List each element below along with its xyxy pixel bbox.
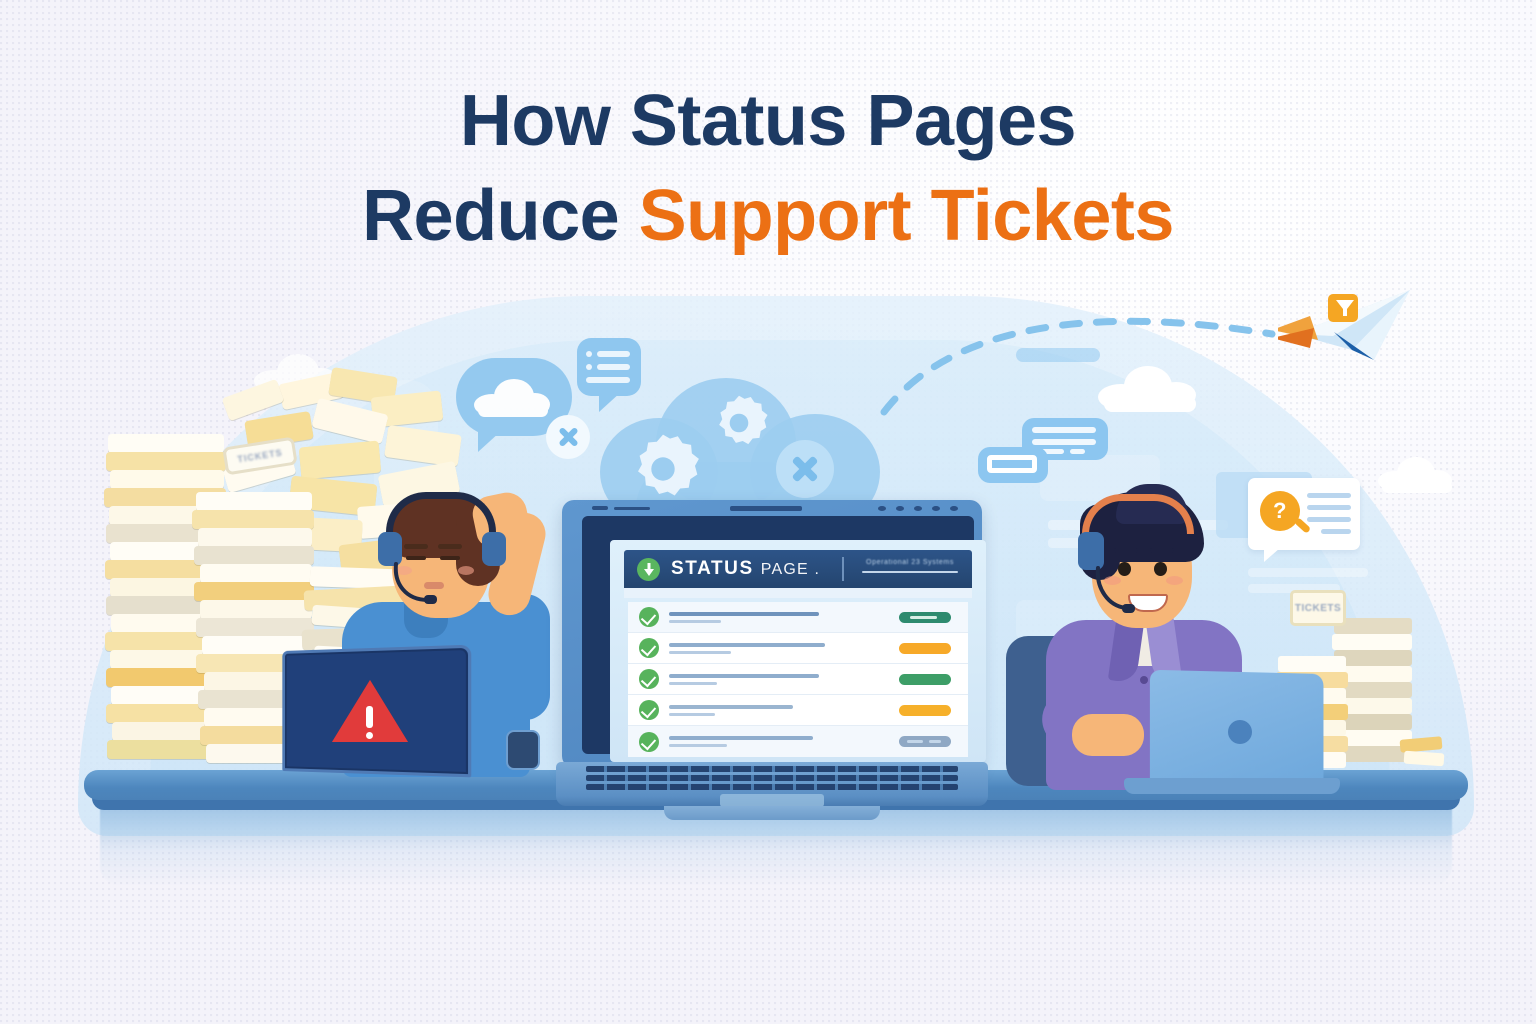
brand-light: PAGE . — [761, 561, 820, 578]
laptop-base — [1124, 778, 1340, 794]
card-line — [1321, 529, 1351, 534]
status-row[interactable] — [628, 664, 968, 695]
gear-icon — [708, 392, 770, 454]
status-row[interactable] — [628, 602, 968, 633]
card-line — [1307, 505, 1351, 510]
lid-mark — [592, 506, 608, 510]
agent-blush — [1166, 576, 1183, 585]
title-line-1: How Status Pages — [0, 76, 1536, 167]
ticket-stack-tag: TICKETS — [1290, 590, 1346, 626]
agent-eye — [1154, 562, 1167, 576]
status-cell — [882, 695, 968, 726]
infographic-canvas: TICKETS — [0, 0, 1536, 1024]
status-badge — [899, 612, 951, 623]
right-agent-laptop — [1152, 672, 1328, 784]
status-cell — [882, 664, 968, 695]
status-page-title: STATUSPAGE . — [671, 558, 820, 580]
center-laptop: STATUSPAGE . Operational 23 Systems — [556, 500, 988, 822]
status-row[interactable] — [628, 633, 968, 664]
agent-blush — [458, 566, 474, 575]
check-circle-icon — [639, 669, 659, 689]
laptop-logo — [1228, 720, 1252, 744]
laptop-keyboard[interactable] — [586, 766, 958, 792]
lid-dot — [896, 506, 904, 511]
page-title: How Status Pages Reduce Support Tickets — [0, 76, 1536, 261]
lid-dot — [878, 506, 886, 511]
agent-eyebrow — [1114, 548, 1138, 553]
agent-hand — [1072, 714, 1144, 756]
headset-band-icon — [386, 492, 496, 532]
status-row[interactable] — [628, 695, 968, 726]
laptop-screen: STATUSPAGE . Operational 23 Systems — [610, 540, 986, 762]
status-cell — [882, 633, 968, 664]
service-name-placeholder — [669, 612, 882, 623]
lid-dot — [950, 506, 958, 511]
check-circle-icon — [639, 607, 659, 627]
status-page-meta: Operational 23 Systems — [862, 559, 958, 573]
card-line — [1307, 517, 1351, 522]
status-page-app: STATUSPAGE . Operational 23 Systems — [624, 550, 972, 754]
headset-mic-icon — [392, 562, 438, 608]
headset-mic-icon — [1094, 566, 1140, 614]
brand-bold: STATUS — [671, 558, 754, 579]
status-badge — [899, 674, 951, 685]
title-prefix: Reduce — [362, 176, 639, 256]
headset-cup-icon — [1078, 532, 1104, 570]
headset-cup-icon — [482, 532, 506, 566]
service-name-placeholder — [669, 736, 882, 747]
meta-text: Operational 23 Systems — [862, 559, 958, 566]
header-divider — [842, 557, 844, 581]
status-cell — [882, 726, 968, 757]
agent-eyebrow — [438, 544, 462, 549]
check-circle-icon — [639, 700, 659, 720]
agent-eye — [406, 556, 426, 560]
title-line-2: Reduce Support Tickets — [0, 171, 1536, 262]
lid-mark — [614, 507, 650, 510]
warning-exclamation — [366, 706, 373, 728]
envelope-tag-text: TICKETS — [237, 448, 284, 465]
laptop-lid: STATUSPAGE . Operational 23 Systems — [562, 500, 982, 768]
agent-eyebrow — [1150, 548, 1174, 553]
status-page-subbar — [624, 588, 972, 598]
card-line — [1307, 493, 1351, 498]
lid-dot — [932, 506, 940, 511]
gear-icon — [624, 430, 702, 508]
agent-eye — [440, 556, 460, 560]
status-badge — [899, 643, 951, 654]
left-agent-laptop — [276, 648, 468, 774]
lid-dot — [914, 506, 922, 511]
screen-bezel: STATUSPAGE . Operational 23 Systems — [582, 516, 974, 754]
meta-underline — [862, 571, 958, 573]
status-badge — [899, 736, 951, 747]
lid-mark — [730, 506, 802, 511]
status-page-header: STATUSPAGE . Operational 23 Systems — [624, 550, 972, 588]
paper-plane-icon — [1278, 288, 1418, 368]
title-accent: Support Tickets — [639, 176, 1174, 256]
x-mark-icon — [546, 415, 590, 459]
check-circle-icon — [639, 732, 659, 752]
ticket-stack-label: TICKETS — [1295, 603, 1341, 614]
mouse-icon — [506, 730, 540, 770]
download-arrow-icon — [637, 558, 660, 581]
service-name-placeholder — [669, 705, 882, 716]
x-mark-icon — [776, 440, 834, 498]
service-name-placeholder — [669, 643, 882, 654]
status-badge — [899, 705, 951, 716]
agent-eyebrow — [404, 544, 428, 549]
shirt-button — [1140, 676, 1148, 684]
dashed-trail-icon — [880, 300, 1300, 420]
check-circle-icon — [639, 638, 659, 658]
status-cell — [882, 602, 968, 633]
service-name-placeholder — [669, 674, 882, 685]
warning-dot — [366, 732, 373, 739]
laptop-foot — [664, 806, 880, 820]
headset-cup-icon — [378, 532, 402, 566]
status-row[interactable] — [628, 726, 968, 757]
